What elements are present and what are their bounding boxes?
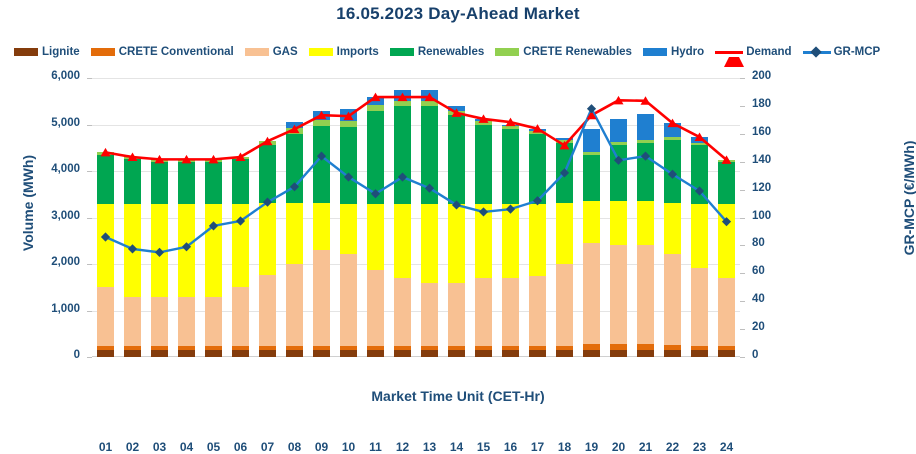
bar-stack[interactable] <box>340 78 357 357</box>
bar-stack[interactable] <box>232 78 249 357</box>
bar-segment-gas <box>178 297 195 347</box>
bar-segment-crete-renewables <box>259 141 276 145</box>
legend-label: Imports <box>337 46 379 58</box>
bar-segment-renewables <box>583 155 600 202</box>
y-axis-left-tickmark <box>87 218 92 219</box>
bar-stack[interactable] <box>664 78 681 357</box>
legend-item-gr-mcp[interactable]: GR-MCP <box>803 46 881 58</box>
bar-stack[interactable] <box>502 78 519 357</box>
bar-segment-lignite <box>313 350 330 357</box>
bar-segment-renewables <box>313 126 330 203</box>
y-axis-left-tick-label: 5,000 <box>22 117 80 129</box>
x-axis-tick-label: 24 <box>712 440 742 454</box>
y-axis-right-tick-label: 160 <box>752 126 792 138</box>
bar-segment-imports <box>232 204 249 288</box>
bar-stack[interactable] <box>718 78 735 357</box>
bar-segment-imports <box>367 204 384 270</box>
bar-segment-imports <box>637 201 654 245</box>
y-axis-right-tickmark <box>740 301 745 302</box>
bar-stack[interactable] <box>286 78 303 357</box>
bar-segment-renewables <box>340 127 357 204</box>
bar-segment-renewables <box>691 145 708 203</box>
bar-segment-lignite <box>583 350 600 357</box>
legend-label: Lignite <box>42 46 80 58</box>
legend-line-gr-mcp <box>803 46 831 58</box>
x-axis-tick-label: 02 <box>118 440 148 454</box>
y-axis-left-tickmark <box>87 78 92 79</box>
bar-segment-gas <box>340 254 357 346</box>
bar-segment-crete-renewables <box>583 152 600 155</box>
bar-stack[interactable] <box>178 78 195 357</box>
bar-segment-renewables <box>151 162 168 204</box>
legend-item-lignite[interactable]: Lignite <box>14 46 80 58</box>
bar-segment-crete-renewables <box>313 120 330 126</box>
x-axis-title: Market Time Unit (CET-Hr) <box>0 388 916 404</box>
y-axis-right-tick-label: 40 <box>752 293 792 305</box>
bar-stack[interactable] <box>475 78 492 357</box>
bar-segment-lignite <box>178 350 195 357</box>
legend-swatch-renewables <box>390 48 414 56</box>
bar-segment-renewables <box>259 145 276 203</box>
y-axis-right-tick-label: 0 <box>752 349 792 361</box>
x-axis-tick-label: 08 <box>280 440 310 454</box>
bar-segment-imports <box>151 204 168 297</box>
bar-segment-crete-renewables <box>556 140 573 143</box>
bar-stack[interactable] <box>529 78 546 357</box>
bar-segment-hydro <box>691 137 708 143</box>
bar-segment-gas <box>367 270 384 346</box>
bar-segment-imports <box>475 204 492 278</box>
x-axis-tick-label: 21 <box>631 440 661 454</box>
bar-segment-crete-renewables <box>637 140 654 143</box>
bar-segment-hydro <box>286 122 303 128</box>
bar-segment-lignite <box>610 350 627 357</box>
bar-segment-gas <box>394 278 411 346</box>
bar-segment-crete-conventional <box>610 344 627 350</box>
bar-segment-renewables <box>394 106 411 204</box>
bar-segment-crete-renewables <box>421 101 438 106</box>
bar-segment-gas <box>286 264 303 346</box>
bar-segment-lignite <box>718 350 735 357</box>
legend-swatch-gas <box>245 48 269 56</box>
bar-segment-gas <box>583 243 600 344</box>
legend-swatch-crete-conventional <box>91 48 115 56</box>
bar-segment-imports <box>124 204 141 297</box>
bar-stack[interactable] <box>124 78 141 357</box>
bar-segment-crete-conventional <box>151 346 168 350</box>
bar-segment-crete-renewables <box>367 105 384 111</box>
x-axis-tick-label: 16 <box>496 440 526 454</box>
bar-segment-renewables <box>718 162 735 204</box>
y-axis-left-tick-label: 3,000 <box>22 210 80 222</box>
y-axis-right-tick-label: 200 <box>752 70 792 82</box>
bar-segment-crete-renewables <box>691 143 708 145</box>
bar-segment-lignite <box>394 350 411 357</box>
bar-segment-crete-conventional <box>502 346 519 350</box>
legend-label: GAS <box>273 46 298 58</box>
bar-segment-hydro <box>637 114 654 140</box>
bar-segment-renewables <box>448 115 465 203</box>
y-axis-right-tick-label: 80 <box>752 237 792 249</box>
bar-segment-hydro <box>367 97 384 105</box>
bar-segment-hydro <box>394 90 411 101</box>
bar-segment-lignite <box>448 350 465 357</box>
bar-segment-hydro <box>475 119 492 121</box>
bar-segment-lignite <box>421 350 438 357</box>
x-axis-tick-label: 13 <box>415 440 445 454</box>
bar-segment-imports <box>664 203 681 254</box>
x-axis-tick-label: 19 <box>577 440 607 454</box>
bar-segment-crete-renewables <box>178 159 195 161</box>
bar-segment-imports <box>502 204 519 278</box>
bar-segment-hydro <box>502 125 519 126</box>
bar-segment-gas <box>205 297 222 347</box>
bar-segment-lignite <box>367 350 384 357</box>
y-axis-right-tickmark <box>740 218 745 219</box>
x-axis-tick-label: 03 <box>145 440 175 454</box>
bar-segment-lignite <box>286 350 303 357</box>
x-axis-tick-label: 05 <box>199 440 229 454</box>
bar-segment-hydro <box>556 138 573 140</box>
bar-segment-crete-conventional <box>97 346 114 350</box>
legend-item-demand[interactable]: Demand <box>715 46 791 58</box>
bar-segment-gas <box>664 254 681 346</box>
bar-segment-hydro <box>448 106 465 111</box>
bar-segment-crete-renewables <box>475 121 492 125</box>
bar-segment-renewables <box>556 143 573 203</box>
bar-stack[interactable] <box>448 78 465 357</box>
bar-segment-crete-conventional <box>367 346 384 350</box>
bar-segment-imports <box>259 203 276 275</box>
x-axis-tick-label: 14 <box>442 440 472 454</box>
y-axis-right-tick-label: 120 <box>752 182 792 194</box>
bar-segment-lignite <box>637 350 654 357</box>
bar-segment-renewables <box>610 145 627 201</box>
y-axis-left-tick-label: 2,000 <box>22 256 80 268</box>
bar-segment-lignite <box>340 350 357 357</box>
x-axis-tick-label: 11 <box>361 440 391 454</box>
bar-segment-crete-conventional <box>475 346 492 350</box>
bar-segment-crete-conventional <box>664 345 681 350</box>
bar-segment-renewables <box>502 129 519 203</box>
bar-segment-hydro <box>664 123 681 137</box>
bar-segment-crete-conventional <box>205 346 222 350</box>
bar-segment-crete-conventional <box>259 346 276 350</box>
y-axis-left-tick-label: 0 <box>22 349 80 361</box>
bar-segment-crete-renewables <box>286 128 303 134</box>
bar-stack[interactable] <box>610 78 627 357</box>
bar-segment-imports <box>286 203 303 263</box>
x-axis-tick-label: 15 <box>469 440 499 454</box>
bar-segment-lignite <box>232 350 249 357</box>
bar-segment-lignite <box>691 350 708 357</box>
x-axis-tick-label: 01 <box>91 440 121 454</box>
bar-segment-renewables <box>529 134 546 204</box>
y-axis-right-tickmark <box>740 329 745 330</box>
y-axis-right-tickmark <box>740 245 745 246</box>
legend-swatch-imports <box>309 48 333 56</box>
bar-segment-imports <box>718 204 735 278</box>
legend-label: GR-MCP <box>834 46 881 58</box>
legend-item-imports[interactable]: Imports <box>309 46 379 58</box>
bar-segment-imports <box>529 204 546 276</box>
y-axis-right-tickmark <box>740 162 745 163</box>
bar-segment-gas <box>313 250 330 346</box>
bar-segment-gas <box>97 287 114 346</box>
x-axis-tick-label: 17 <box>523 440 553 454</box>
bar-segment-crete-conventional <box>232 346 249 350</box>
bar-segment-crete-conventional <box>394 346 411 350</box>
plot-area: 01,0002,0003,0004,0005,0006,000020406080… <box>92 78 740 357</box>
bar-segment-gas <box>421 283 438 346</box>
bar-segment-crete-conventional <box>421 346 438 350</box>
x-axis-tick-label: 23 <box>685 440 715 454</box>
bar-segment-lignite <box>97 350 114 357</box>
x-axis-tick-label: 10 <box>334 440 364 454</box>
y-axis-right-tick-label: 100 <box>752 210 792 222</box>
bar-segment-renewables <box>124 159 141 203</box>
day-ahead-market-chart: 16.05.2023 Day-Ahead Market LigniteCRETE… <box>0 0 916 412</box>
bar-segment-hydro <box>313 111 330 121</box>
bar-segment-gas <box>259 275 276 346</box>
bar-segment-gas <box>610 245 627 344</box>
bar-segment-crete-renewables <box>205 159 222 161</box>
bar-segment-crete-renewables <box>502 126 519 129</box>
bar-segment-imports <box>421 204 438 283</box>
bar-segment-crete-conventional <box>718 346 735 350</box>
bar-segment-gas <box>529 276 546 346</box>
bar-segment-renewables <box>664 140 681 203</box>
bar-segment-lignite <box>556 350 573 357</box>
y-axis-right-tickmark <box>740 78 745 79</box>
bar-segment-crete-conventional <box>583 344 600 350</box>
bar-segment-crete-renewables <box>529 131 546 134</box>
bar-stack[interactable] <box>394 78 411 357</box>
legend-item-hydro[interactable]: Hydro <box>643 46 704 58</box>
legend-swatch-lignite <box>14 48 38 56</box>
bar-segment-crete-renewables <box>394 101 411 106</box>
bar-segment-crete-renewables <box>151 159 168 161</box>
bar-segment-gas <box>151 297 168 347</box>
bar-segment-crete-renewables <box>232 157 249 159</box>
y-axis-right-tickmark <box>740 190 745 191</box>
bar-segment-hydro <box>529 129 546 131</box>
bar-segment-imports <box>448 204 465 283</box>
bar-segment-lignite <box>529 350 546 357</box>
y-axis-left-tick-label: 1,000 <box>22 303 80 315</box>
bar-segment-gas <box>502 278 519 346</box>
bar-segment-imports <box>394 204 411 278</box>
bar-segment-hydro <box>340 109 357 121</box>
bar-segment-crete-conventional <box>178 346 195 350</box>
y-axis-left-tickmark <box>87 264 92 265</box>
bar-segment-imports <box>205 204 222 297</box>
bar-segment-renewables <box>205 162 222 204</box>
bar-segment-lignite <box>205 350 222 357</box>
bar-segment-imports <box>610 201 627 245</box>
y-axis-right-tick-label: 60 <box>752 265 792 277</box>
bar-segment-lignite <box>502 350 519 357</box>
bar-stack[interactable] <box>691 78 708 357</box>
bar-segment-imports <box>583 201 600 243</box>
bar-segment-crete-conventional <box>340 346 357 350</box>
bar-segment-renewables <box>637 143 654 201</box>
bar-segment-imports <box>691 204 708 268</box>
y-axis-left-tickmark <box>87 171 92 172</box>
legend-item-renewables[interactable]: Renewables <box>390 46 484 58</box>
bar-segment-crete-conventional <box>313 346 330 350</box>
chart-legend: LigniteCRETE ConventionalGASImportsRenew… <box>14 44 904 60</box>
x-axis-tick-label: 12 <box>388 440 418 454</box>
bar-segment-crete-renewables <box>340 121 357 127</box>
bar-stack[interactable] <box>637 78 654 357</box>
y-axis-right-tick-label: 20 <box>752 321 792 333</box>
x-axis-tick-label: 20 <box>604 440 634 454</box>
bar-segment-imports <box>97 204 114 288</box>
bar-segment-gas <box>124 297 141 347</box>
bar-segment-hydro <box>610 119 627 142</box>
bar-stack[interactable] <box>421 78 438 357</box>
legend-swatch-hydro <box>643 48 667 56</box>
x-axis-tick-label: 22 <box>658 440 688 454</box>
bar-segment-crete-renewables <box>664 137 681 140</box>
bar-segment-crete-renewables <box>97 152 114 154</box>
bar-segment-lignite <box>124 350 141 357</box>
y-axis-left-tickmark <box>87 311 92 312</box>
y-axis-left-tickmark <box>87 357 92 358</box>
bar-segment-crete-renewables <box>610 142 627 145</box>
bar-segment-gas <box>691 268 708 346</box>
bar-segment-hydro <box>421 90 438 101</box>
y-axis-right-tick-label: 180 <box>752 98 792 110</box>
bar-segment-renewables <box>178 162 195 204</box>
legend-label: CRETE Renewables <box>523 46 632 58</box>
bar-segment-gas <box>232 287 249 346</box>
bar-segment-crete-renewables <box>448 111 465 115</box>
y-axis-left-tick-label: 6,000 <box>22 70 80 82</box>
bar-stack[interactable] <box>97 78 114 357</box>
bar-segment-crete-renewables <box>718 160 735 162</box>
bar-segment-gas <box>637 245 654 344</box>
bar-segment-crete-conventional <box>529 346 546 350</box>
y-axis-right-tick-label: 140 <box>752 154 792 166</box>
bar-segment-renewables <box>367 111 384 204</box>
bar-segment-crete-conventional <box>286 346 303 350</box>
bar-segment-crete-renewables <box>124 157 141 159</box>
x-axis-tick-label: 09 <box>307 440 337 454</box>
bar-segment-crete-conventional <box>691 346 708 350</box>
x-axis-tick-label: 18 <box>550 440 580 454</box>
bar-segment-crete-conventional <box>448 346 465 350</box>
bar-segment-renewables <box>97 155 114 204</box>
bar-segment-renewables <box>475 125 492 204</box>
legend-item-crete-renewables[interactable]: CRETE Renewables <box>495 46 632 58</box>
bar-segment-crete-conventional <box>637 344 654 350</box>
bar-segment-lignite <box>664 350 681 357</box>
bar-stack[interactable] <box>259 78 276 357</box>
legend-line-demand <box>715 46 743 58</box>
x-axis-tick-label: 07 <box>253 440 283 454</box>
y-axis-left-tick-label: 4,000 <box>22 163 80 175</box>
bar-stack[interactable] <box>313 78 330 357</box>
bar-segment-crete-conventional <box>124 346 141 350</box>
legend-item-gas[interactable]: GAS <box>245 46 298 58</box>
bar-segment-gas <box>718 278 735 346</box>
x-axis-tick-label: 06 <box>226 440 256 454</box>
x-axis-tick-label: 04 <box>172 440 202 454</box>
bar-segment-gas <box>475 278 492 346</box>
bar-segment-crete-conventional <box>556 346 573 350</box>
bar-segment-lignite <box>475 350 492 357</box>
bar-stack[interactable] <box>151 78 168 357</box>
bar-segment-imports <box>178 204 195 297</box>
legend-swatch-crete-renewables <box>495 48 519 56</box>
y-axis-left-tickmark <box>87 125 92 126</box>
bar-segment-lignite <box>151 350 168 357</box>
bar-segment-renewables <box>232 159 249 203</box>
y-axis-right-tickmark <box>740 134 745 135</box>
y-axis-right-tickmark <box>740 106 745 107</box>
legend-label: CRETE Conventional <box>119 46 234 58</box>
bar-stack[interactable] <box>583 78 600 357</box>
legend-label: Renewables <box>418 46 484 58</box>
y-axis-right-tickmark <box>740 357 745 358</box>
bar-segment-renewables <box>286 134 303 204</box>
bar-segment-gas <box>556 264 573 346</box>
bar-segment-imports <box>340 204 357 254</box>
y-axis-right-title: GR-MCP (€/MWh) <box>901 73 916 323</box>
legend-label: Demand <box>746 46 791 58</box>
bar-segment-hydro <box>583 129 600 152</box>
y-axis-right-tickmark <box>740 273 745 274</box>
legend-label: Hydro <box>671 46 704 58</box>
page-title: 16.05.2023 Day-Ahead Market <box>0 4 916 24</box>
bar-stack[interactable] <box>205 78 222 357</box>
bar-segment-gas <box>448 283 465 346</box>
bar-stack[interactable] <box>556 78 573 357</box>
bar-segment-imports <box>313 203 330 250</box>
bar-segment-lignite <box>259 350 276 357</box>
bar-segment-renewables <box>421 106 438 204</box>
bar-stack[interactable] <box>367 78 384 357</box>
legend-item-crete-conventional[interactable]: CRETE Conventional <box>91 46 234 58</box>
bar-segment-imports <box>556 203 573 263</box>
